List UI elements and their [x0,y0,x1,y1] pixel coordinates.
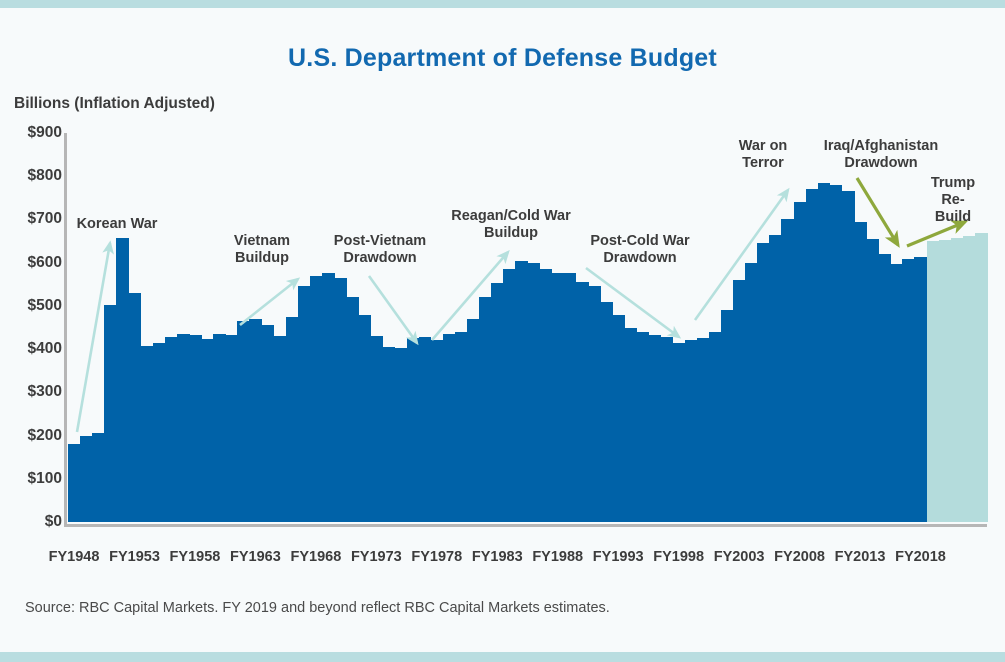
bar-fy2008 [794,202,807,522]
y-axis-line [64,133,67,524]
bar-fy1951 [104,305,117,522]
bar-fy1980 [455,332,468,522]
bar-fy1971 [346,297,359,522]
x-axis-tick-label: FY1963 [230,549,281,565]
x-axis-tick-label: FY1953 [109,549,160,565]
x-axis-tick-label: FY1983 [472,549,523,565]
bar-fy2020 [939,240,952,522]
bar-fy1977 [419,337,432,522]
chart-plot-area [68,133,987,522]
bar-fy1985 [515,261,528,522]
x-axis-tick-label: FY1958 [170,549,221,565]
y-axis-tick-label: $800 [4,167,62,185]
bar-fy1992 [600,302,613,522]
x-axis-ticks: FY1948FY1953FY1958FY1963FY1968FY1973FY19… [0,549,1005,575]
bar-fy1965 [274,336,287,522]
bar-fy1991 [588,286,601,522]
x-axis-line [64,524,987,527]
bar-fy1989 [564,273,577,522]
bar-fy1976 [407,338,420,522]
bar-fy2014 [866,239,879,522]
bar-fy2011 [830,185,843,522]
bar-fy1953 [128,293,141,522]
bar-fy2000 [697,338,710,522]
y-axis-tick-label: $0 [4,513,62,531]
bar-fy1967 [298,286,311,522]
y-axis-tick-label: $900 [4,124,62,142]
bar-fy1952 [116,238,129,522]
bar-fy1986 [528,263,541,522]
bar-fy1962 [237,321,250,522]
bar-fy1996 [648,335,661,522]
x-axis-tick-label: FY2008 [774,549,825,565]
bar-fy1958 [189,335,202,522]
y-axis-tick-label: $700 [4,210,62,228]
bar-fy1987 [540,269,553,522]
bar-fy1998 [673,343,686,522]
y-axis-tick-label: $400 [4,340,62,358]
annotation-trump-re-build: Trump Re-Build [927,175,979,226]
bar-fy2016 [890,264,903,522]
bar-fy1993 [612,315,625,522]
top-accent-band [0,0,1005,8]
bar-fy2018 [914,257,927,522]
bar-fy1972 [358,315,371,522]
bar-fy2021 [951,238,964,522]
bar-fy1994 [624,328,637,523]
bar-fy1964 [261,325,274,522]
x-axis-tick-label: FY2013 [835,549,886,565]
bar-fy1969 [322,273,335,522]
bar-fy2001 [709,332,722,522]
x-axis-tick-label: FY1998 [653,549,704,565]
bar-fy2010 [818,183,831,522]
bar-fy1981 [467,319,480,522]
annotation-post-vietnam-drawdown: Post-Vietnam Drawdown [334,233,426,267]
bar-fy1988 [552,273,565,522]
bar-fy2022 [963,236,976,522]
bar-fy1979 [443,334,456,522]
x-axis-tick-label: FY1993 [593,549,644,565]
x-axis-tick-label: FY1973 [351,549,402,565]
bar-fy1970 [334,278,347,522]
bar-fy2019 [927,241,940,522]
bar-fy1948 [68,444,81,522]
bar-fy2005 [757,243,770,522]
bar-fy1959 [201,339,214,522]
bar-fy2003 [733,280,746,522]
bar-fy1950 [92,433,105,522]
bar-fy2017 [902,259,915,522]
x-axis-tick-label: FY1968 [290,549,341,565]
x-axis-tick-label: FY2018 [895,549,946,565]
bar-fy1955 [153,343,166,522]
annotation-iraq-afghanistan-drawdown: Iraq/Afghanistan Drawdown [824,138,938,172]
x-axis-tick-label: FY1948 [49,549,100,565]
bar-fy2013 [854,222,867,522]
y-axis-tick-label: $500 [4,297,62,315]
y-axis-tick-label: $300 [4,383,62,401]
annotation-post-cold-war-drawdown: Post-Cold War Drawdown [590,233,689,267]
bar-fy1961 [225,335,238,522]
bar-fy2006 [769,235,782,522]
annotation-vietnam-buildup: Vietnam Buildup [234,233,290,267]
bar-fy2004 [745,263,758,522]
bar-fy2012 [842,191,855,522]
bar-fy1956 [165,337,178,522]
bar-fy1990 [576,282,589,522]
bar-fy1966 [286,317,299,522]
bar-fy1999 [685,340,698,522]
bar-fy2015 [878,254,891,522]
annotation-reagan-cold-war-buildup: Reagan/Cold War Buildup [451,208,571,242]
y-axis-tick-label: $100 [4,470,62,488]
bar-fy1957 [177,334,190,522]
bar-fy2023 [975,233,988,522]
bar-fy2009 [806,189,819,522]
bottom-accent-band [0,652,1005,662]
y-axis-tick-label: $200 [4,427,62,445]
bar-fy1975 [394,348,407,522]
bar-fy1997 [661,337,674,522]
bar-fy1973 [370,336,383,522]
bar-fy1982 [479,297,492,522]
bar-fy1974 [382,347,395,522]
bar-fy1954 [141,346,154,522]
annotation-war-on-terror: War on Terror [739,138,788,172]
bar-fy1960 [213,334,226,522]
source-note: Source: RBC Capital Markets. FY 2019 and… [25,600,610,616]
x-axis-tick-label: FY1988 [532,549,583,565]
x-axis-tick-label: FY1978 [411,549,462,565]
bar-fy1949 [80,436,93,522]
bar-fy1983 [491,283,504,522]
annotation-korean-war: Korean War [77,216,158,233]
bar-fy1995 [636,332,649,522]
bar-fy2002 [721,310,734,522]
bar-fy1968 [310,276,323,522]
bar-fy1978 [431,340,444,522]
bar-fy1984 [503,269,516,522]
page-title: U.S. Department of Defense Budget [0,44,1005,73]
y-axis-tick-label: $600 [4,254,62,272]
bar-fy1963 [249,319,262,522]
x-axis-tick-label: FY2003 [714,549,765,565]
bar-fy2007 [781,219,794,522]
